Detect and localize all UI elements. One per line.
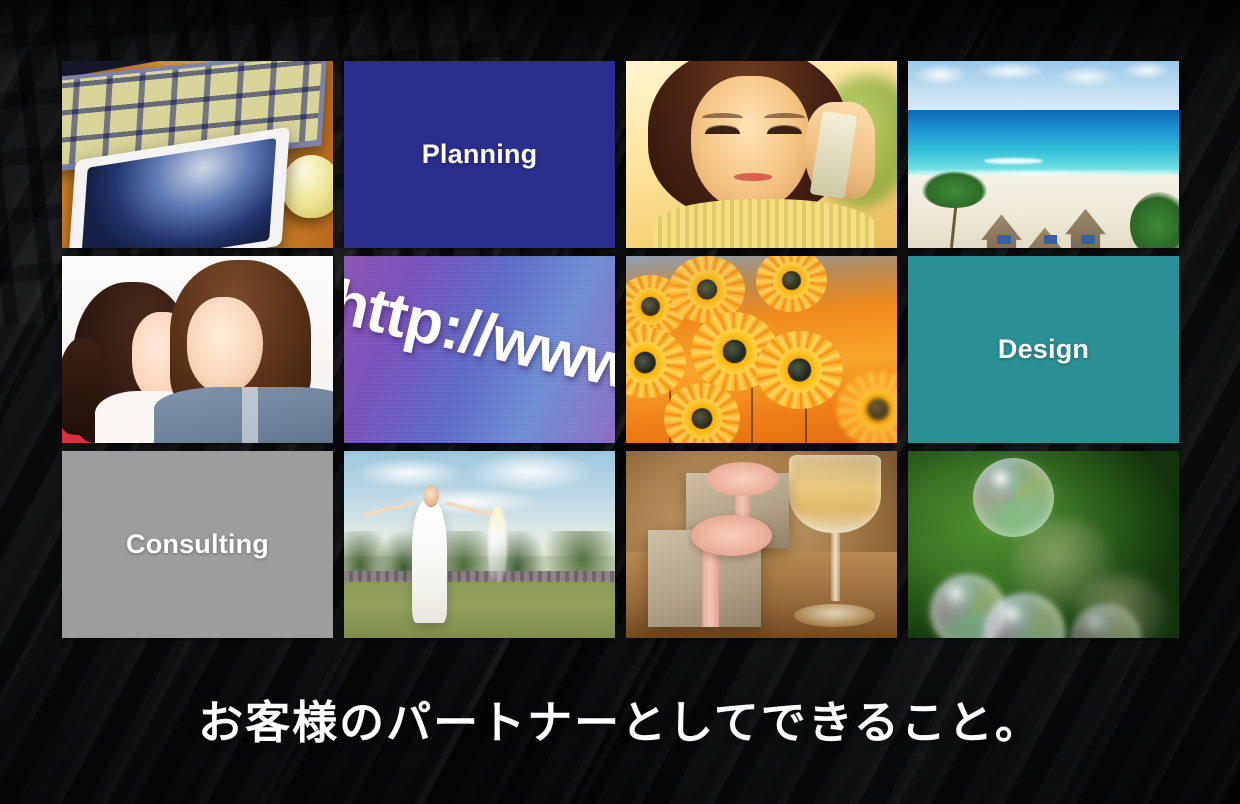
tile-woman-on-phone[interactable] (626, 61, 897, 248)
page-headline: お客様のパートナーとしてできること。 (0, 686, 1240, 751)
surf-patch (984, 158, 1044, 164)
tile-keyboard-tablet[interactable] (62, 61, 333, 248)
face (691, 76, 810, 211)
tile-planning-label: Planning (344, 61, 615, 248)
flower-center (693, 410, 711, 427)
white-dress (412, 500, 447, 623)
flower (664, 383, 740, 443)
beach-chair (1044, 235, 1058, 244)
service-tile-grid: Planning (62, 61, 1178, 638)
tile-planning[interactable]: Planning (344, 61, 615, 248)
mouth (734, 173, 772, 180)
yellow-sweater (653, 199, 875, 248)
tile-consulting-label: Consulting (62, 451, 333, 638)
tile-mother-and-daughter[interactable] (62, 256, 333, 443)
flower-center (724, 342, 745, 361)
wine-glass-stem (831, 533, 840, 600)
cloud (355, 458, 463, 488)
eye-left (705, 126, 740, 133)
eyebrow-right (764, 113, 805, 118)
ribbon-bow-back (707, 462, 777, 496)
eye-right (767, 126, 802, 133)
wine-glass-bowl (789, 455, 881, 534)
flower-center (868, 400, 888, 418)
wine-glass-base (794, 604, 875, 626)
page-root: Planning (0, 0, 1240, 804)
eyebrow-left (702, 113, 743, 118)
flower (756, 256, 826, 312)
tile-orange-flowers[interactable] (626, 256, 897, 443)
beach-chair (1081, 235, 1095, 244)
tile-woman-in-field[interactable] (344, 451, 615, 638)
flower-center (783, 273, 800, 288)
tile-gift-and-wine[interactable] (626, 451, 897, 638)
flower (756, 331, 843, 410)
beach-chair (997, 235, 1011, 244)
grass-field (344, 582, 615, 638)
flower (626, 327, 686, 398)
tile-tropical-beach[interactable] (908, 61, 1179, 248)
head (423, 485, 439, 507)
tile-design-label: Design (908, 256, 1179, 443)
ribbon-bow-front (691, 515, 772, 556)
tile-design[interactable]: Design (908, 256, 1179, 443)
flower-center (635, 354, 655, 371)
tablet-screen (81, 138, 277, 248)
computer-mouse (282, 155, 333, 219)
flower-center (789, 361, 810, 380)
soap-bubble (973, 458, 1054, 537)
flower-center (642, 299, 659, 314)
cloud (469, 451, 594, 492)
tile-consulting[interactable]: Consulting (62, 451, 333, 638)
clouds (908, 61, 1179, 95)
mother-denim-shirt (154, 387, 333, 443)
flower-blurred (837, 372, 897, 443)
tile-soap-bubbles[interactable] (908, 451, 1179, 638)
held-fabric (488, 507, 507, 582)
palm-tree (924, 166, 989, 248)
tile-http-www[interactable]: http://www (344, 256, 615, 443)
flower-center (698, 282, 716, 298)
